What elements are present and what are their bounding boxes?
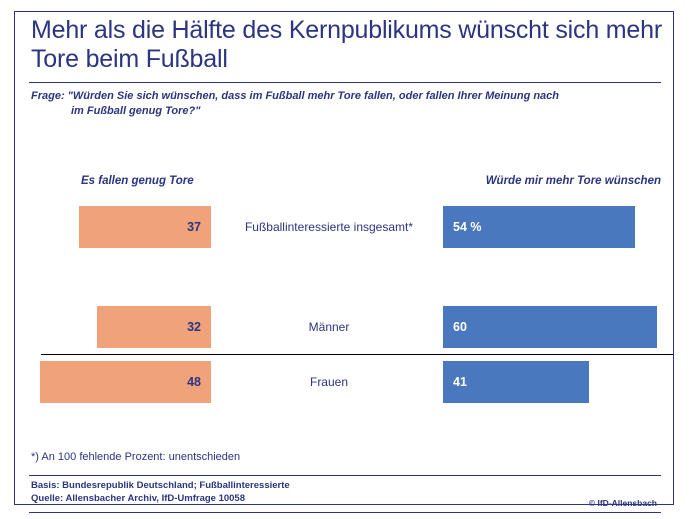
question-line-1: Frage: "Würden Sie sich wünschen, dass i… xyxy=(31,90,559,102)
right-bar-track: 41 xyxy=(443,361,673,403)
bar-left: 48 xyxy=(40,361,211,403)
bar-value-left: 37 xyxy=(187,220,201,234)
row-divider xyxy=(41,354,673,355)
right-bar-track: 54 % xyxy=(443,206,673,248)
chart-page: Mehr als die Hälfte des Kernpublikums wü… xyxy=(14,11,674,505)
left-bar-track: 37 xyxy=(15,206,211,248)
footer-divider-bottom xyxy=(29,512,661,513)
question-text: Frage: "Würden Sie sich wünschen, dass i… xyxy=(31,89,661,119)
source-block: Basis: Bundesrepublik Deutschland; Fußba… xyxy=(31,480,290,505)
category-label: Männer xyxy=(215,306,443,348)
page-title: Mehr als die Hälfte des Kernpublikums wü… xyxy=(31,16,667,74)
chart-area: 37 Fußballinteressierte insgesamt* 54 % … xyxy=(15,197,673,412)
bar-left: 32 xyxy=(97,306,211,348)
bar-value-right: 54 % xyxy=(453,220,482,234)
bar-left: 37 xyxy=(79,206,211,248)
footnote-text: *) An 100 fehlende Prozent: unentschiede… xyxy=(31,451,240,463)
copyright-text: © IfD-Allensbach xyxy=(589,498,657,508)
footer-divider-top xyxy=(29,475,661,476)
bar-value-right: 60 xyxy=(453,320,467,334)
bar-right: 41 xyxy=(443,361,589,403)
source-quelle: Quelle: Allensbacher Archiv, IfD-Umfrage… xyxy=(31,493,290,506)
legend-label-left: Es fallen genug Tore xyxy=(81,175,194,187)
source-basis: Basis: Bundesrepublik Deutschland; Fußba… xyxy=(31,480,290,493)
bar-right: 54 % xyxy=(443,206,635,248)
chart-row: 48 Frauen 41 xyxy=(15,361,673,403)
bar-right: 60 xyxy=(443,306,657,348)
bar-value-right: 41 xyxy=(453,375,467,389)
question-line-2: im Fußball genug Tore?" xyxy=(31,104,661,119)
category-label: Fußballinteressierte insgesamt* xyxy=(215,206,443,248)
chart-row: 37 Fußballinteressierte insgesamt* 54 % xyxy=(15,206,673,248)
bar-value-left: 32 xyxy=(187,320,201,334)
right-bar-track: 60 xyxy=(443,306,673,348)
legend-label-right: Würde mir mehr Tore wünschen xyxy=(444,175,661,187)
title-divider xyxy=(29,82,661,83)
chart-row: 32 Männer 60 xyxy=(15,306,673,348)
bar-value-left: 48 xyxy=(187,375,201,389)
left-bar-track: 32 xyxy=(15,306,211,348)
left-bar-track: 48 xyxy=(15,361,211,403)
category-label: Frauen xyxy=(215,361,443,403)
